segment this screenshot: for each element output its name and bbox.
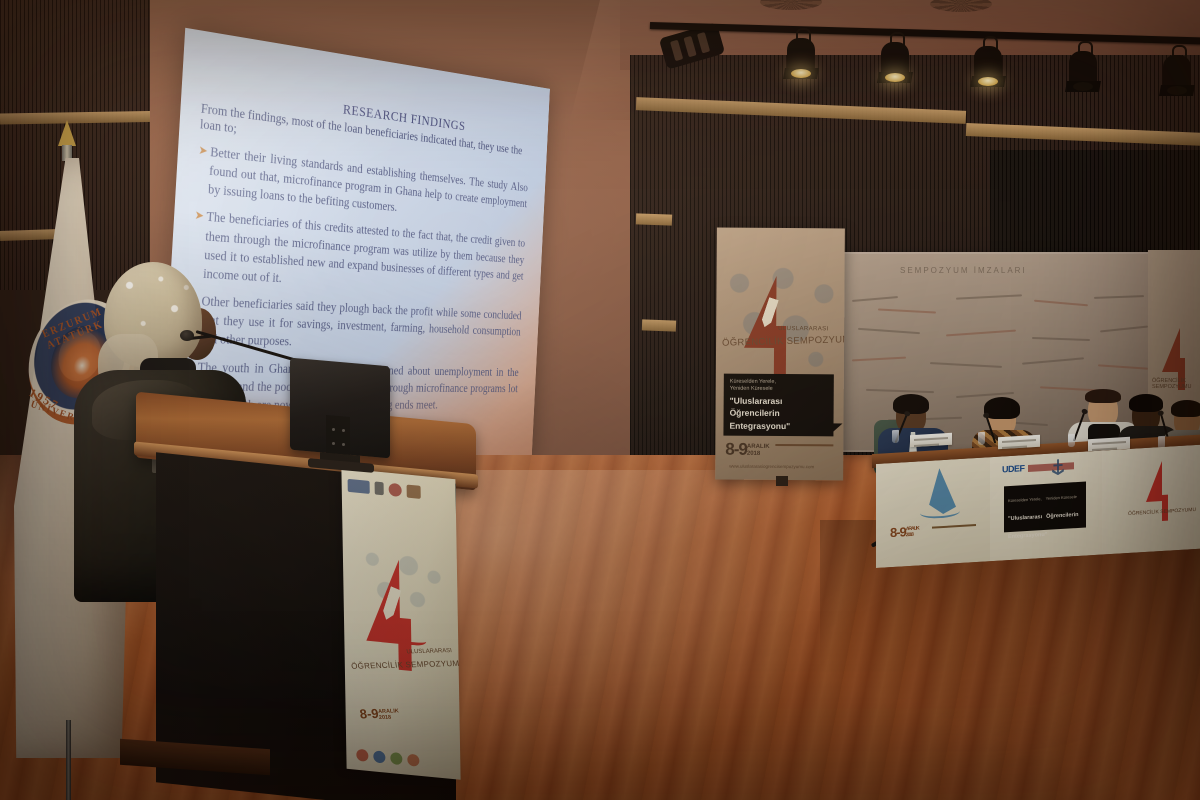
sponsor-logo-icon	[407, 484, 421, 498]
panel-microphone-icon	[986, 416, 997, 443]
skirt-date-year: 2018	[906, 531, 913, 537]
flag-pole	[66, 720, 71, 800]
bullet-arrow-icon: ➤	[194, 207, 204, 225]
banner-date-number: 8-9	[725, 440, 747, 459]
wall-trim-strip	[636, 213, 672, 225]
water-glass	[892, 430, 899, 443]
theme-line-2: Yeniden Küresele	[730, 386, 828, 394]
skirt-panel-right: ÖĞRENCİLİK SEMPOZYUMU	[1102, 444, 1200, 555]
flag-finial-icon	[58, 120, 76, 146]
banner-url: www.uluslararasiogrencisempozyumu.com	[729, 464, 814, 470]
theme-big-2: Öğrencilerin	[1046, 512, 1078, 520]
panel-table: 8-9ARALIK2018 UDEF Küreselden Yerele, Ye…	[872, 378, 1200, 578]
theme-big-1: "Uluslararası	[730, 395, 828, 406]
stage-spotlight-icon	[784, 28, 818, 86]
lectern-date-number: 8-9	[359, 706, 380, 722]
theme-big-3: Entegrasyonu"	[1008, 532, 1047, 540]
sponsor-logo-icon	[407, 754, 419, 767]
sponsor-logo-row-bottom	[356, 748, 452, 771]
lectern-date-year: 2018	[379, 714, 392, 720]
symposium-logo-icon	[744, 276, 821, 367]
sponsor-logo-icon	[356, 749, 368, 762]
stage-spotlight-icon	[1066, 41, 1100, 99]
signature-board-heading: SEMPOZYUM İMZALARI	[900, 266, 1027, 275]
water-glass	[978, 432, 985, 445]
stage-spotlight-icon	[971, 36, 1005, 94]
stage-spotlight-icon	[1160, 45, 1194, 103]
theme-line-2: Yeniden Küresele	[1046, 494, 1077, 501]
banner-title-top: ULUSLARARASI	[778, 326, 829, 332]
stage-spotlight-icon	[878, 32, 912, 90]
rollup-banner: ULUSLARARASI ÖĞRENCİLİK SEMPOZYUMU Küres…	[715, 228, 845, 481]
sponsor-logo-row-top	[347, 475, 453, 505]
lectern-banner-title-top: ULUSLARARASI	[406, 648, 452, 655]
udef-logo-icon	[348, 478, 370, 493]
banner-theme-box: Küreselden Yerele, Yeniden Küresele "Ulu…	[723, 374, 833, 437]
theme-big-1: "Uluslararası	[1008, 514, 1042, 522]
skirt-date-number: 8-9	[890, 524, 906, 540]
name-card	[998, 435, 1040, 449]
banner-date-month: ARALIK	[747, 444, 770, 450]
lectern-banner-date: 8-9ARALIK2018	[359, 705, 400, 721]
skirt-panel-left: 8-9ARALIK2018	[876, 457, 990, 568]
theme-line-1: Küreselden Yerele,	[1008, 496, 1042, 503]
banner-date-year: 2018	[747, 450, 760, 456]
name-card	[910, 433, 952, 447]
panel-table-skirt: 8-9ARALIK2018 UDEF Küreselden Yerele, Ye…	[876, 444, 1200, 568]
theme-big-2: Öğrencilerin	[730, 408, 828, 419]
banner-date: 8-9ARALIK2018	[725, 440, 769, 460]
sponsor-logo-icon	[389, 482, 402, 496]
monitor-base	[308, 458, 374, 473]
sponsor-logo-icon	[373, 750, 385, 763]
water-glass	[1068, 434, 1075, 447]
symposium-logo-icon	[1146, 461, 1162, 502]
skirt-date: 8-9ARALIK2018	[890, 523, 919, 540]
banner-stand-base	[776, 476, 788, 486]
skirt-theme-box: Küreselden Yerele, Yeniden Küresele "Ulu…	[1004, 482, 1086, 533]
wall-trim-strip	[642, 319, 676, 331]
organizer-logo-text: UDEF	[1002, 463, 1025, 474]
conference-hall-photo: RESEARCH FINDINGS From the findings, mos…	[0, 0, 1200, 800]
theme-big-3: Entegrasyonu"	[729, 421, 827, 432]
bullet-arrow-icon: ➤	[198, 142, 208, 160]
microphone-head-icon	[180, 330, 194, 341]
symposium-logo-icon	[361, 556, 443, 674]
lectern-banner: ULUSLARARASI ÖĞRENCİLİK SEMPOZYUMU 8-9AR…	[341, 468, 460, 780]
skirt-panel-center: UDEF Küreselden Yerele, Yeniden Küresele…	[990, 451, 1102, 562]
anchor-icon	[375, 481, 384, 495]
confidence-monitor	[290, 362, 395, 474]
sponsor-logo-icon	[390, 752, 402, 765]
